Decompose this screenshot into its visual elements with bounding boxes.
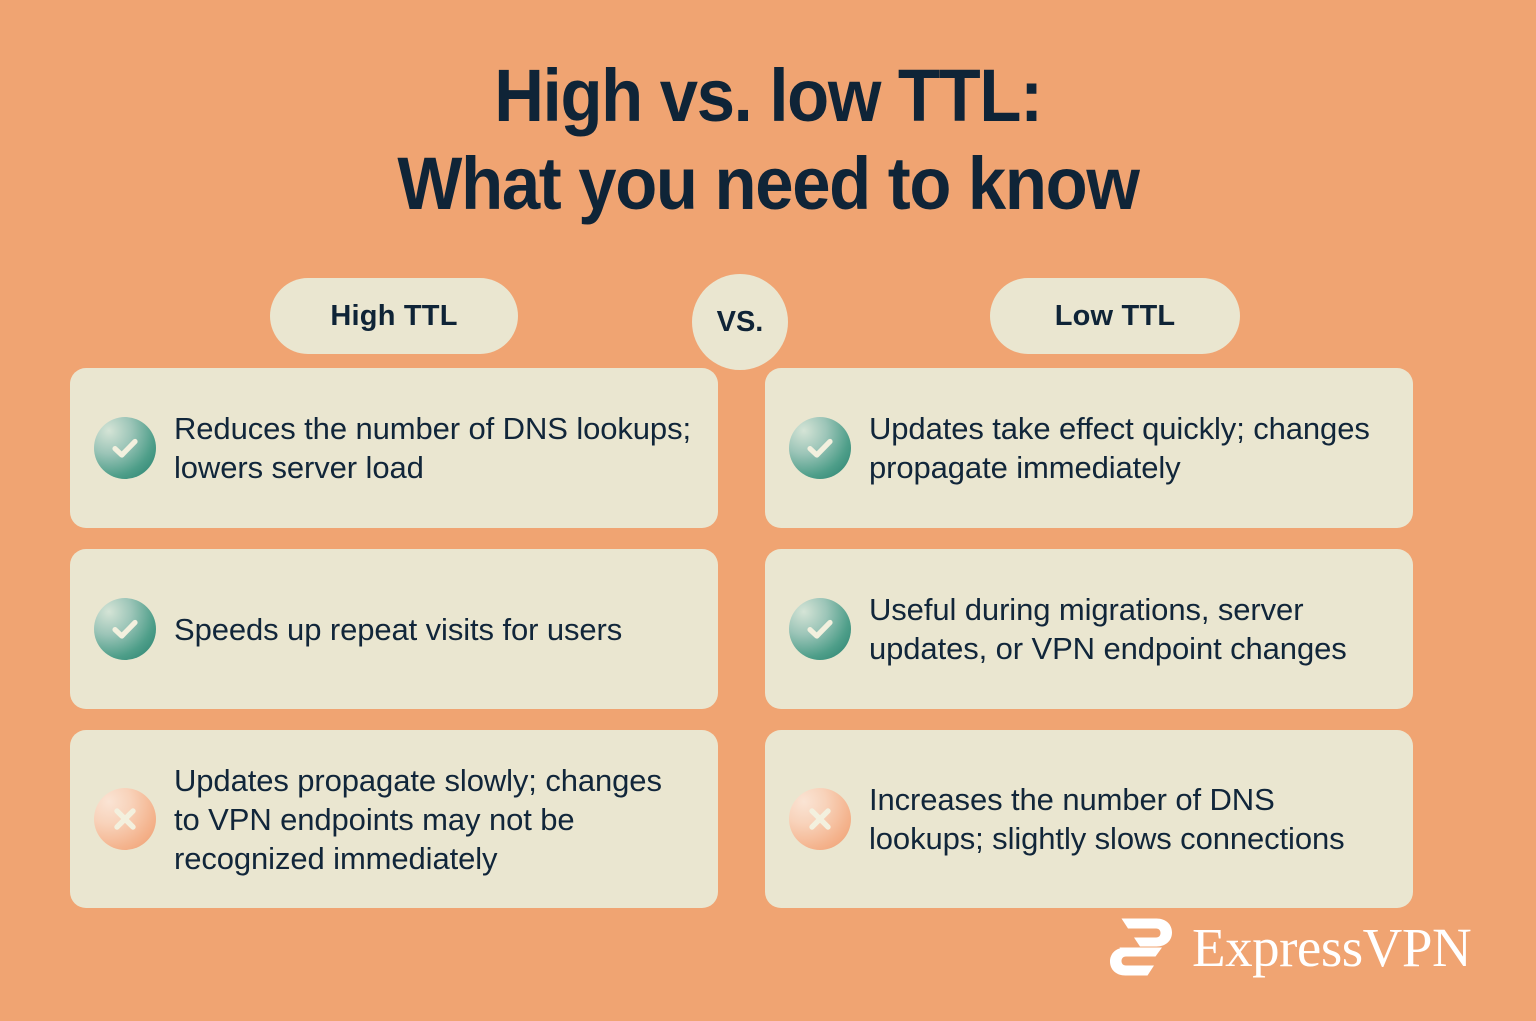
check-icon [789,598,851,660]
versus-label: VS. [717,306,764,339]
comparison-header-row: High TTL VS. Low TTL [0,278,1536,354]
title-line-1: High vs. low TTL: [54,52,1482,140]
list-item-text: Updates take effect quickly; changes pro… [869,409,1387,487]
column-low-ttl: Updates take effect quickly; changes pro… [765,368,1413,908]
expressvpn-wordmark: ExpressVPN [1192,920,1471,975]
header-pill-low-ttl-label: Low TTL [1055,300,1176,333]
list-item: Increases the number of DNS lookups; sli… [765,730,1413,908]
list-item: Updates propagate slowly; changes to VPN… [70,730,718,908]
comparison-columns: Reduces the number of DNS lookups; lower… [70,368,1466,908]
expressvpn-e-mark-icon [1104,916,1178,978]
list-item-text: Useful during migrations, server updates… [869,590,1387,668]
list-item: Updates take effect quickly; changes pro… [765,368,1413,528]
list-item-text: Reduces the number of DNS lookups; lower… [174,409,692,487]
list-item: Speeds up repeat visits for users [70,549,718,709]
header-pill-high-ttl: High TTL [270,278,518,354]
cross-icon [789,788,851,850]
header-pill-high-ttl-label: High TTL [330,300,457,333]
list-item-text: Updates propagate slowly; changes to VPN… [174,761,692,878]
infographic-root: High vs. low TTL: What you need to know … [0,0,1536,1021]
check-icon [94,598,156,660]
list-item-text: Speeds up repeat visits for users [174,610,622,649]
list-item: Reduces the number of DNS lookups; lower… [70,368,718,528]
check-icon [94,417,156,479]
list-item: Useful during migrations, server updates… [765,549,1413,709]
check-icon [789,417,851,479]
page-title: High vs. low TTL: What you need to know [0,52,1536,228]
expressvpn-logo: ExpressVPN [1104,916,1471,978]
versus-badge: VS. [692,274,788,370]
header-pill-low-ttl: Low TTL [990,278,1240,354]
list-item-text: Increases the number of DNS lookups; sli… [869,780,1387,858]
cross-icon [94,788,156,850]
column-high-ttl: Reduces the number of DNS lookups; lower… [70,368,718,908]
title-line-2: What you need to know [54,140,1482,228]
